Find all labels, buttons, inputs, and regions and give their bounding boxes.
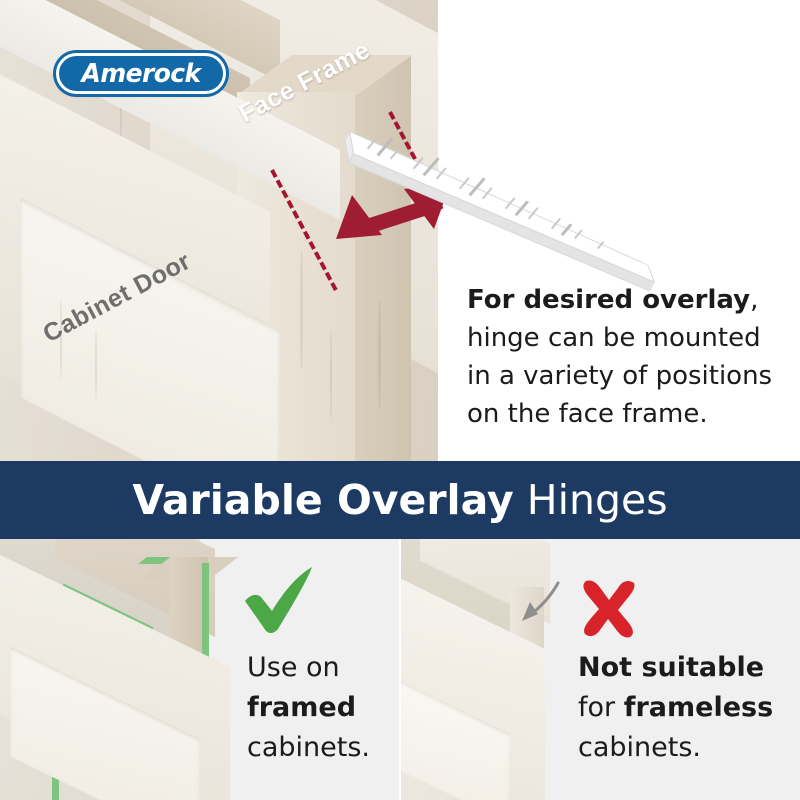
infographic-page: Face Frame Cabinet Door [0, 0, 800, 800]
top-illustration-section: Face Frame Cabinet Door [0, 0, 800, 461]
green-checkmark-icon [240, 565, 318, 640]
curved-arrow-icon [512, 580, 562, 633]
framed-copy: Use on framed cabinets. [247, 648, 387, 768]
wood-grain [95, 330, 97, 400]
overlay-description-line2: hinge can be mounted [467, 319, 787, 357]
framed-copy-line1: Use on [247, 648, 387, 688]
frameless-copy-line2: frameless [624, 692, 773, 723]
amerock-logo: Amerock [56, 53, 226, 94]
framed-copy-line3: cabinets. [247, 728, 387, 768]
overlay-description-line4: on the face frame. [467, 395, 787, 433]
title-banner: Variable Overlay Hinges [0, 461, 800, 539]
wood-grain [300, 250, 303, 370]
amerock-logo-text: Amerock [81, 59, 200, 89]
overlay-description-bold: For desired overlay [467, 285, 750, 315]
framed-copy-line2: framed [247, 692, 356, 723]
wood-grain [330, 330, 332, 420]
overlay-description-line3: in a variety of positions [467, 357, 787, 395]
overlay-description-comma: , [750, 285, 758, 315]
overlay-description: For desired overlay, hinge can be mounte… [467, 281, 787, 433]
banner-title-light: Hinges [527, 476, 668, 524]
frameless-copy-line3: cabinets. [578, 728, 778, 768]
wood-grain [378, 300, 381, 410]
banner-title-bold: Variable Overlay [132, 476, 513, 524]
panel-divider [399, 539, 401, 800]
frameless-copy: Not suitable for frameless cabinets. [578, 648, 778, 768]
banner-title: Variable Overlay Hinges [132, 476, 667, 524]
frameless-copy-prefix: for [578, 692, 624, 723]
red-x-icon [578, 577, 640, 644]
frameless-copy-line1: Not suitable [578, 652, 764, 683]
